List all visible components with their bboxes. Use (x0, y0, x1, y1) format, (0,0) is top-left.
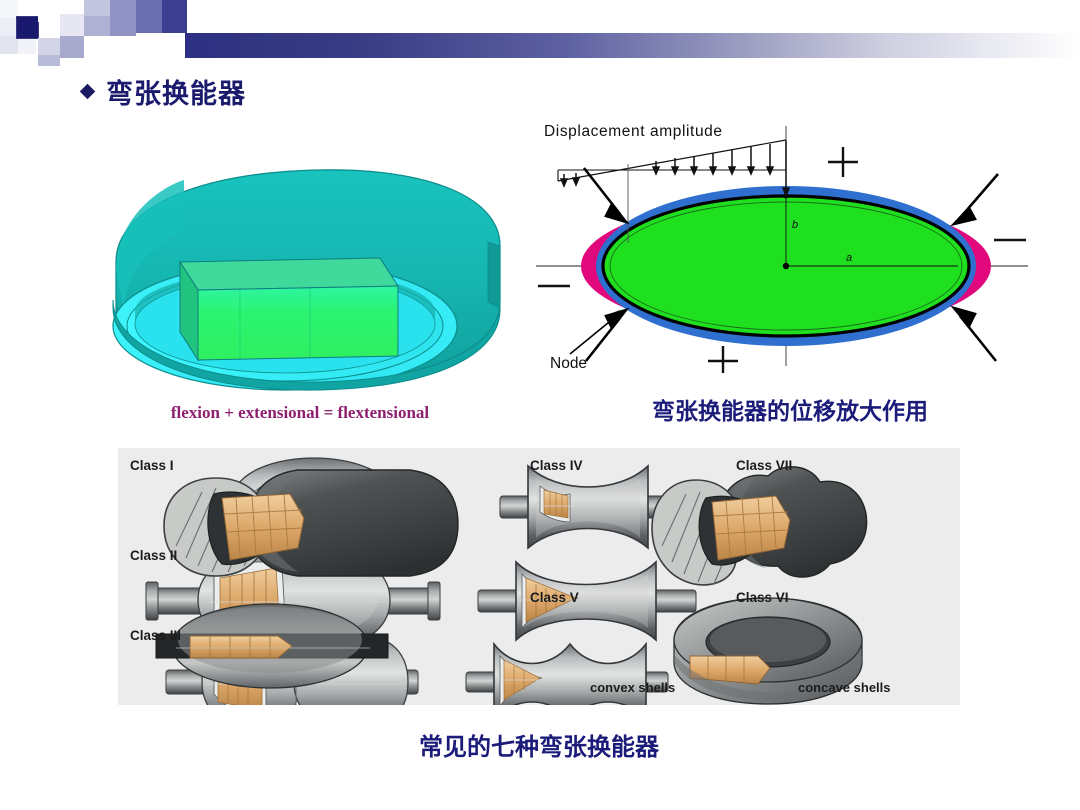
header-accent-square (17, 17, 38, 38)
concave-shells-label: concave shells (798, 680, 891, 695)
class-label-ii: Class II (130, 548, 177, 563)
header-tint-square (38, 55, 60, 66)
diamond-bullet-icon (80, 84, 96, 100)
header-tint-square (0, 18, 18, 36)
class-label-iv: Class IV (530, 458, 583, 473)
header-tint-square (84, 0, 110, 16)
header-tint-square (162, 0, 187, 33)
ceramic-stack-top (180, 258, 398, 290)
seven-classes-caption: 常见的七种弯张换能器 (118, 727, 960, 762)
displacement-caption: 弯张换能器的位移放大作用 (560, 392, 1020, 426)
header-tint-square (18, 36, 36, 54)
class-label-vi: Class VI (736, 590, 789, 605)
header-tint-square (60, 36, 84, 58)
node-label: Node (550, 355, 587, 372)
class-iv-shape (164, 470, 458, 576)
slide-title: 弯张换能器 (82, 72, 246, 111)
polarity-plus-bottom (708, 346, 738, 373)
class-label-i: Class I (130, 458, 174, 473)
ceramic-stack-front (198, 286, 398, 360)
class-i-right-shape (500, 466, 676, 548)
page-title: 弯张换能器 (106, 72, 246, 111)
convex-shells-label: convex shells (590, 680, 675, 695)
class-label-v: Class V (530, 590, 579, 605)
class-ii-right-shape (478, 562, 696, 640)
header-tint-square (136, 0, 162, 33)
header-tint-square (0, 36, 18, 54)
seven-classes-panel: Class I Class II Class III Class IV Clas… (118, 448, 960, 705)
oval-shell-figure (80, 150, 520, 410)
flextensional-equation-caption: flexion + extensional = flextensional (80, 403, 520, 423)
header-tint-square (110, 0, 136, 36)
amplitude-envelope (558, 140, 786, 181)
polarity-plus-top (828, 147, 858, 177)
major-axis-label: a (846, 252, 852, 264)
header-tint-square (38, 0, 60, 22)
header-tint-square (0, 0, 18, 18)
minor-axis-label: b (792, 219, 798, 231)
header-decoration (0, 0, 1080, 66)
header-tint-square (60, 14, 84, 36)
class-vii-shape (652, 467, 867, 585)
header-tint-square (84, 16, 110, 36)
class-iii-right-shape (466, 644, 668, 705)
displacement-figure: b a Displacement amplitude (528, 118, 1050, 373)
displacement-amplitude-label: Displacement amplitude (544, 123, 723, 140)
class-label-vii: Class VII (736, 458, 792, 473)
class-label-iii: Class III (130, 628, 181, 643)
header-gradient-bar (185, 33, 1080, 58)
shell-right-edge (488, 242, 500, 308)
slide-root: 弯张换能器 (0, 0, 1080, 810)
